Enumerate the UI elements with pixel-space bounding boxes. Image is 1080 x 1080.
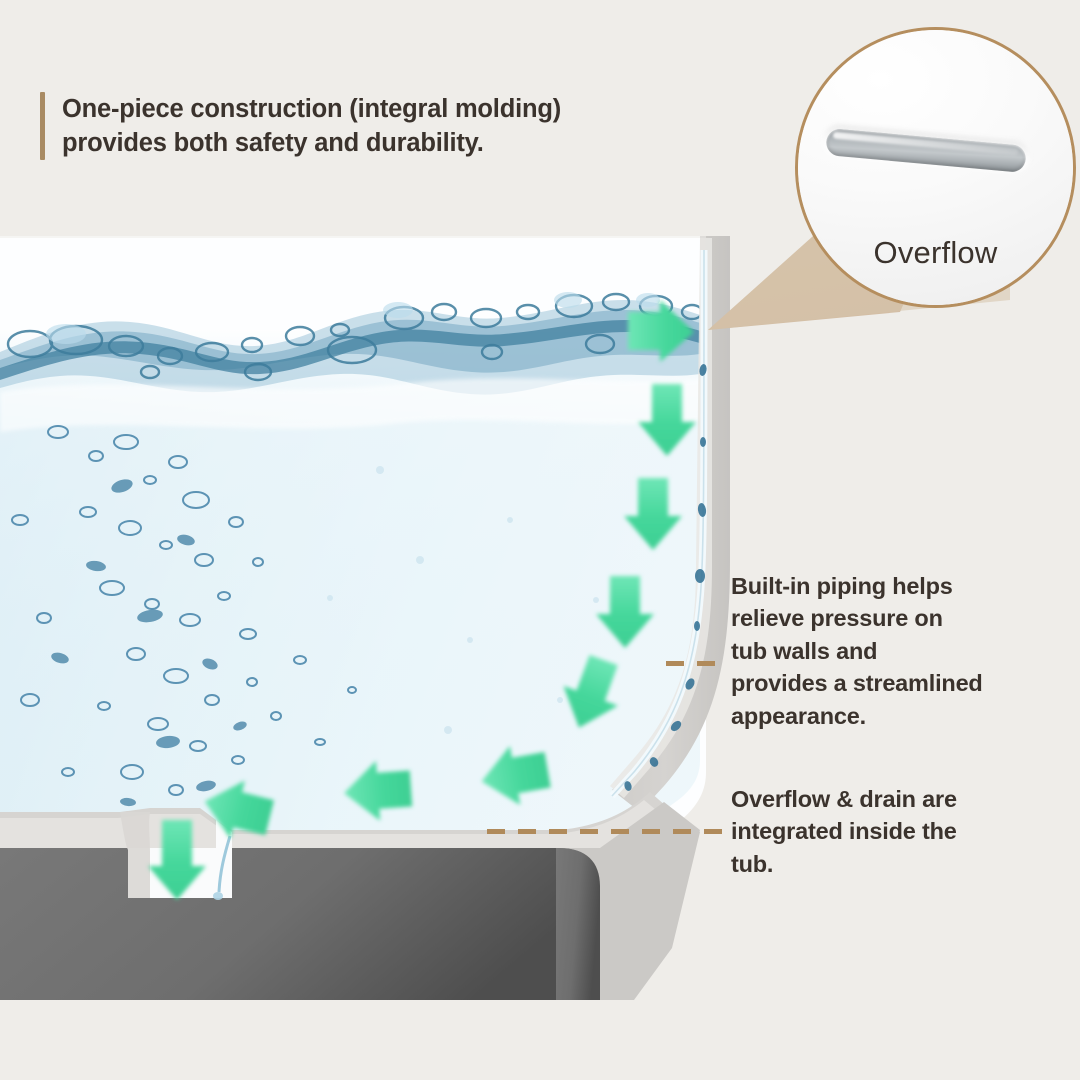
note-built-in-piping: Built-in piping helps relieve pressure o…: [731, 570, 1051, 732]
callout-label: Overflow: [798, 235, 1073, 271]
leader-line-overflow-drain: [487, 829, 728, 834]
leader-line-piping: [666, 661, 728, 666]
diagram-canvas: One-piece construction (integral molding…: [0, 0, 1080, 1080]
heading-accent-bar: [40, 92, 45, 160]
page-title: One-piece construction (integral molding…: [62, 92, 561, 160]
heading-block: One-piece construction (integral molding…: [40, 92, 561, 160]
note-overflow-drain: Overflow & drain are integrated inside t…: [731, 783, 1031, 880]
overflow-detail-callout: Overflow: [795, 27, 1076, 308]
water-body: [0, 292, 710, 850]
